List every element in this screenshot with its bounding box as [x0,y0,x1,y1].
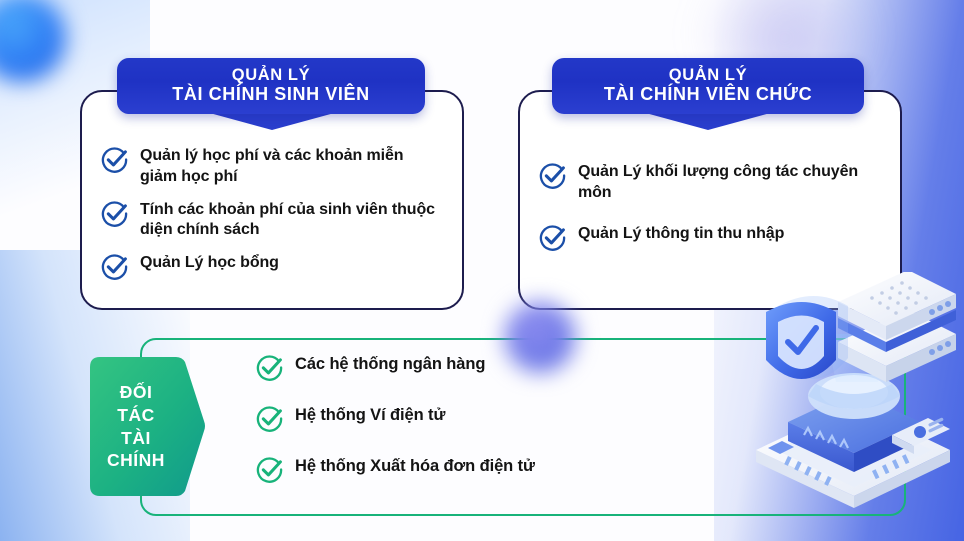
infographic-canvas: Quản lý học phí và các khoản miễn giảm h… [0,0,964,541]
partner-item-list: Các hệ thống ngân hàng Hệ thống Ví điện … [255,352,685,505]
list-item-label: Quản lý học phí và các khoản miễn giảm h… [140,144,444,188]
list-item: Hệ thống Ví điện tử [255,403,685,433]
check-circle-icon [100,252,129,281]
list-item-label: Quản Lý khối lượng công tác chuyên môn [578,160,882,204]
list-item: Tính các khoản phí của sinh viên thuộc d… [100,198,444,242]
list-item-label: Hệ thống Ví điện tử [295,403,445,426]
check-circle-icon [538,223,567,252]
card-students-header: QUẢN LÝ TÀI CHÍNH SINH VIÊN [117,58,425,114]
check-circle-icon [255,404,284,433]
card-students-item-list: Quản lý học phí và các khoản miễn giảm h… [82,144,462,281]
list-item-label: Quản Lý học bổng [140,251,279,274]
list-item-label: Quản Lý thông tin thu nhập [578,222,784,245]
card-staff-header-line1: QUẢN LÝ [669,66,747,84]
check-circle-icon [100,199,129,228]
list-item-label: Tính các khoản phí của sinh viên thuộc d… [140,198,444,242]
banner-tail-staff [642,112,774,130]
check-circle-icon [255,455,284,484]
banner-tail-students [206,112,338,130]
server-stack-shield-illustration [742,272,964,510]
card-staff-header-line2: TÀI CHÍNH VIÊN CHỨC [604,84,812,104]
list-item: Quản Lý học bổng [100,251,444,281]
check-circle-icon [255,353,284,382]
list-item: Quản Lý thông tin thu nhập [538,222,882,252]
partner-badge: ĐỐI TÁC TÀI CHÍNH [80,355,208,498]
card-staff-header: QUẢN LÝ TÀI CHÍNH VIÊN CHỨC [552,58,864,114]
list-item-label: Hệ thống Xuất hóa đơn điện tử [295,454,535,477]
card-staff-item-list: Quản Lý khối lượng công tác chuyên môn Q… [520,160,900,252]
card-students-header-line1: QUẢN LÝ [232,66,310,84]
check-circle-icon [100,145,129,174]
card-students-header-line2: TÀI CHÍNH SINH VIÊN [172,84,369,104]
check-circle-icon [538,161,567,190]
list-item: Hệ thống Xuất hóa đơn điện tử [255,454,685,484]
list-item: Các hệ thống ngân hàng [255,352,685,382]
list-item: Quản lý học phí và các khoản miễn giảm h… [100,144,444,188]
list-item: Quản Lý khối lượng công tác chuyên môn [538,160,882,204]
list-item-label: Các hệ thống ngân hàng [295,352,485,375]
